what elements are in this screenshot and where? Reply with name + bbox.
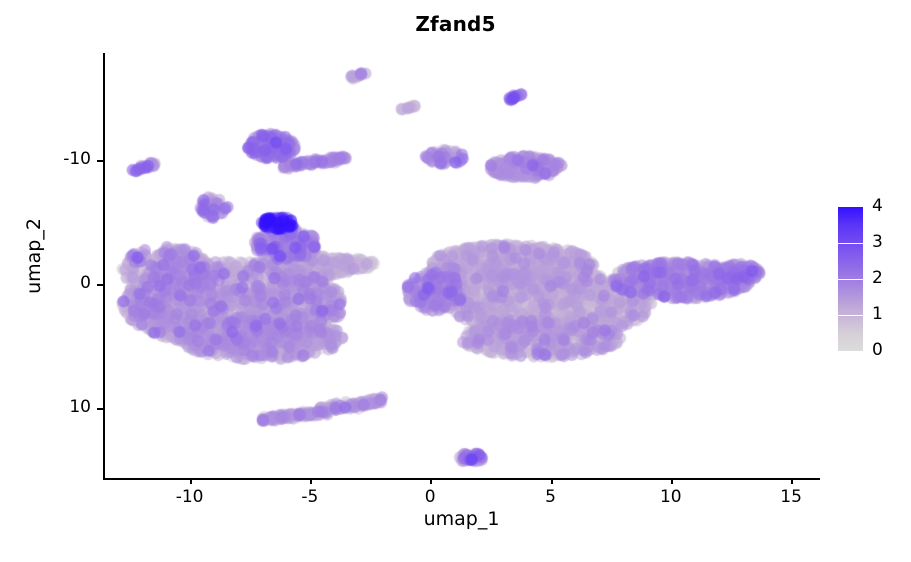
x-axis-label: umap_1	[103, 508, 820, 530]
x-tick-label: -10	[160, 487, 220, 507]
figure: Zfand5 -10-5051015 100-10 umap_1 umap_2 …	[0, 0, 911, 562]
colorbar-tick-label: 1	[872, 304, 902, 324]
y-tick-mark	[97, 408, 103, 410]
x-tick-label: 0	[400, 487, 460, 507]
page-title: Zfand5	[0, 12, 911, 36]
colorbar-tick-label: 3	[872, 232, 902, 252]
x-tick-mark	[310, 478, 312, 484]
colorbar-tick-mark	[838, 279, 863, 280]
colorbar-tick-label: 2	[872, 268, 902, 288]
x-tick-mark	[190, 478, 192, 484]
colorbar-tick-label: 0	[872, 340, 902, 360]
y-tick-mark	[97, 284, 103, 286]
y-tick-mark	[97, 160, 103, 162]
colorbar-tick-mark	[838, 243, 863, 244]
x-tick-label: -5	[280, 487, 340, 507]
colorbar-tick-mark	[838, 315, 863, 316]
x-tick-label: 15	[761, 487, 821, 507]
x-tick-mark	[551, 478, 553, 484]
x-tick-mark	[430, 478, 432, 484]
colorbar-tick-mark	[838, 351, 863, 352]
x-tick-mark	[791, 478, 793, 484]
x-axis-spine	[103, 478, 820, 480]
y-axis-label: umap_2	[23, 146, 45, 366]
x-tick-label: 10	[641, 487, 701, 507]
x-tick-label: 5	[521, 487, 581, 507]
plot-axes: -10-5051015 100-10	[103, 53, 820, 480]
x-tick-mark	[671, 478, 673, 484]
scatter-canvas	[103, 53, 820, 480]
colorbar-gradient	[838, 207, 863, 351]
y-axis-spine	[103, 53, 105, 480]
colorbar-tick-label: 4	[872, 196, 902, 216]
y-tick-label: 10	[33, 397, 91, 417]
